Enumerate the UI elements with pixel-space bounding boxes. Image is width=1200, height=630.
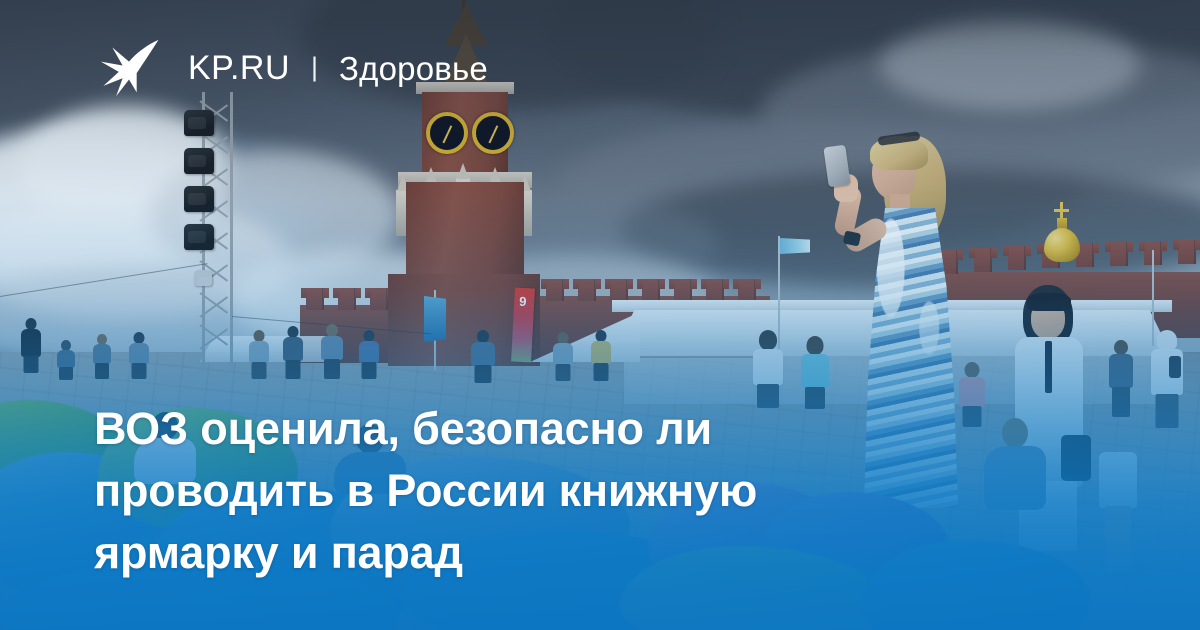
clock-minute-hand <box>488 133 494 144</box>
blue-banner <box>424 296 446 342</box>
brand-header[interactable]: KP.RU | Здоровье <box>96 36 488 100</box>
person <box>552 332 574 380</box>
wall-merlon <box>610 279 628 301</box>
brand-name[interactable]: KP.RU <box>188 51 290 85</box>
stage-light <box>184 186 214 212</box>
article-share-card: KP.RU | Здоровье ВОЗ оценила, безопасно … <box>0 0 1200 630</box>
person <box>752 330 784 406</box>
victory-day-banner <box>511 288 535 363</box>
lighting-truss-tower <box>196 92 240 372</box>
brand-text-group: KP.RU | Здоровье <box>188 51 488 85</box>
stage-light <box>184 224 214 250</box>
truss-leg <box>230 92 233 372</box>
wall-merlon <box>338 288 356 310</box>
cloud <box>880 20 1140 110</box>
swallow-bird-logo-icon[interactable] <box>96 36 162 100</box>
person <box>282 326 304 378</box>
person <box>248 330 270 378</box>
blue-flag <box>780 238 810 254</box>
clock-face-left <box>426 112 468 154</box>
person-legs <box>1098 452 1138 572</box>
clock-face-right <box>472 112 514 154</box>
wall-merlon <box>674 279 692 301</box>
person <box>320 324 344 378</box>
clock-minute-hand <box>442 133 448 144</box>
headline-line-2: проводить в России книжную <box>94 460 994 522</box>
smartphone-icon <box>823 145 850 188</box>
cross-icon <box>1054 209 1069 212</box>
wall-merlon <box>1178 240 1196 264</box>
person <box>128 332 150 378</box>
brand-separator: | <box>311 54 318 81</box>
wall-merlon <box>1110 242 1128 266</box>
tower-quadrangle <box>406 182 524 286</box>
small-box <box>194 270 212 286</box>
wall-merlon <box>306 288 324 310</box>
headline-line-3: ярмарку и парад <box>94 522 994 584</box>
person <box>20 318 42 372</box>
wall-merlon <box>738 279 756 301</box>
person <box>470 330 496 382</box>
person <box>92 334 112 378</box>
headline-line-1: ВОЗ оценила, безопасно ли <box>94 398 994 460</box>
wall-merlon <box>642 279 660 301</box>
phone-held-up <box>1168 356 1182 382</box>
person <box>358 330 380 378</box>
stage-light <box>184 110 214 136</box>
dome-bulb <box>1044 228 1080 262</box>
bangs <box>1027 293 1071 311</box>
golden-dome <box>1040 208 1084 268</box>
handbag <box>1061 435 1091 481</box>
brand-section[interactable]: Здоровье <box>339 52 488 85</box>
person <box>590 330 612 380</box>
article-headline: ВОЗ оценила, безопасно ли проводить в Ро… <box>94 398 994 584</box>
wall-merlon <box>578 279 596 301</box>
neck-tie <box>1045 341 1052 393</box>
wall-merlon <box>1008 246 1026 270</box>
stage-light <box>184 148 214 174</box>
person <box>1108 340 1134 416</box>
person <box>56 340 76 378</box>
wall-merlon <box>706 279 724 301</box>
